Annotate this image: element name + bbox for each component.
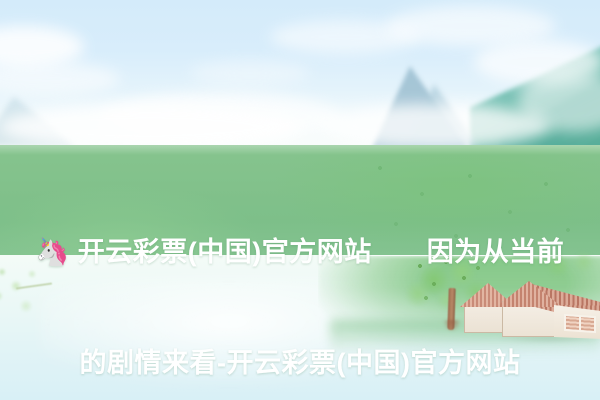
cloud — [190, 60, 310, 86]
caption-line-2: 的剧情来看-开云彩票(中国)官方网站 — [0, 345, 600, 382]
cloud — [0, 104, 300, 150]
image-canvas: 🦄 开云彩票(中国)官方网站 因为从当前 的剧情来看-开云彩票(中国)官方网站 — [0, 0, 600, 400]
caption-overlay: 🦄 开云彩票(中国)官方网站 因为从当前 的剧情来看-开云彩票(中国)官方网站 — [0, 160, 600, 400]
cloud — [320, 104, 550, 148]
caption-line-1: 🦄 开云彩票(中国)官方网站 因为从当前 — [0, 234, 600, 271]
